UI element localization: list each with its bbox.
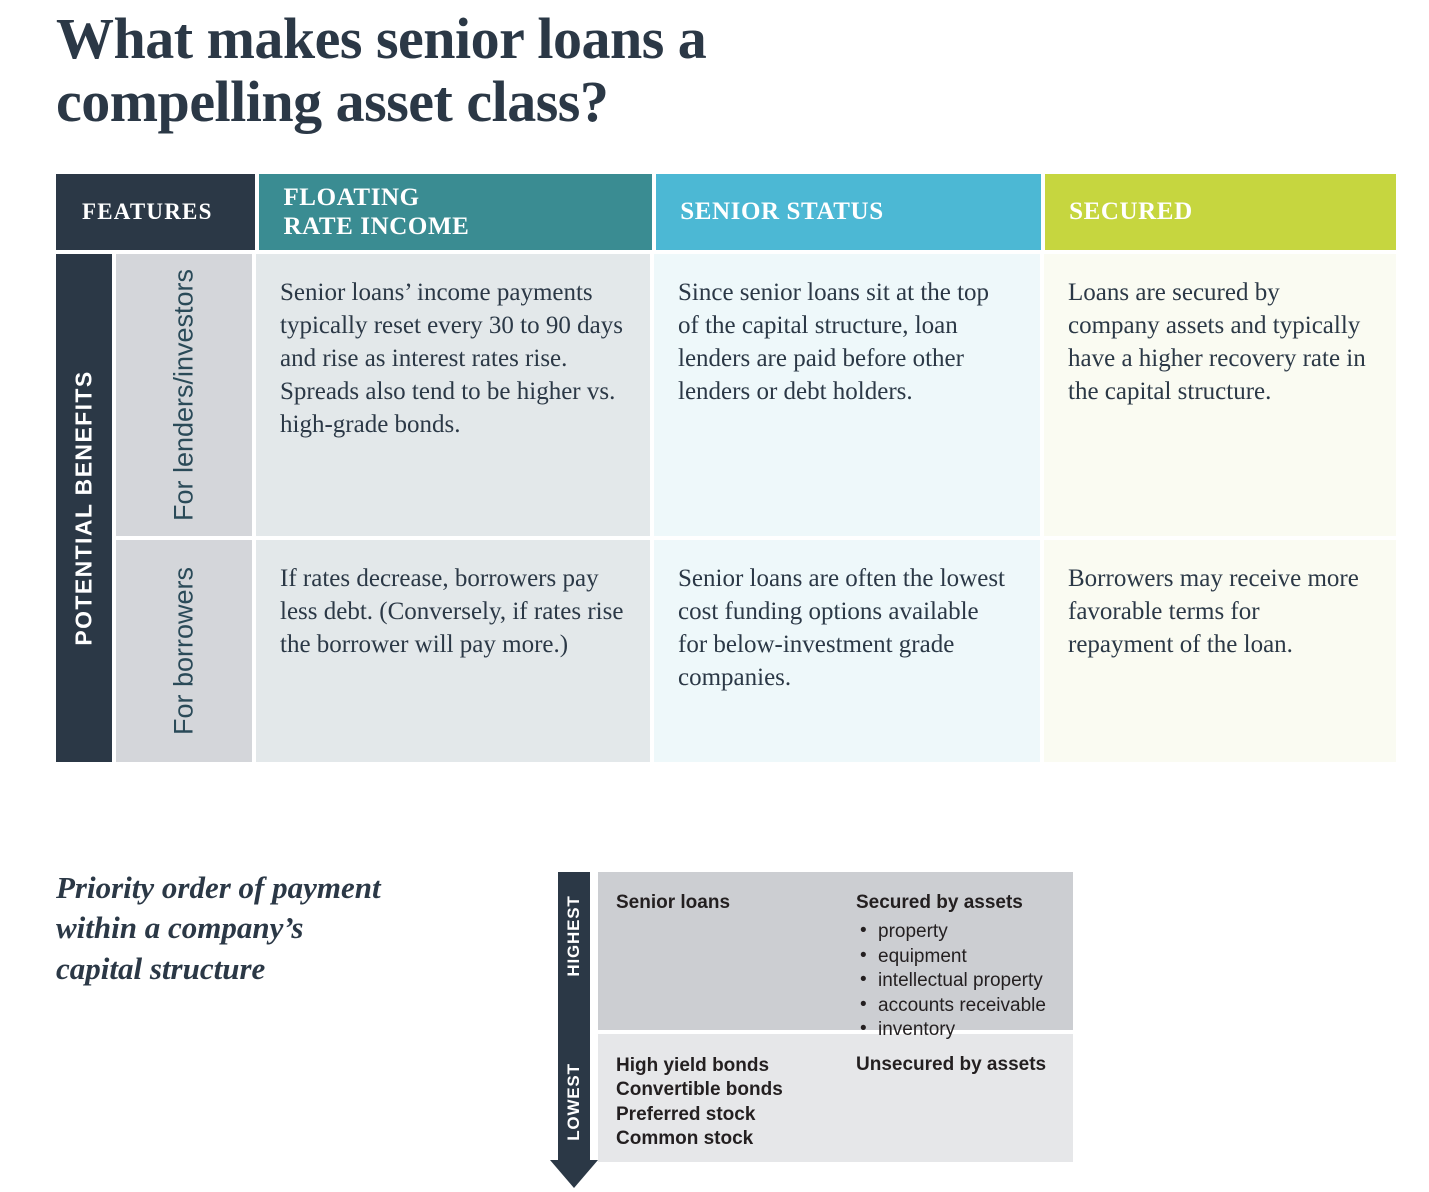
priority-caption: Priority order of payment within a compa… bbox=[56, 868, 486, 989]
list-item: inventory bbox=[856, 1018, 1071, 1043]
cell-lenders-secured: Loans are secured by company assets and … bbox=[1044, 254, 1396, 536]
priority-instrument-convertible-bonds: Convertible bonds bbox=[616, 1078, 856, 1102]
unsecured-by-assets-heading: Unsecured by assets bbox=[856, 1054, 1071, 1076]
priority-instrument-common-stock: Common stock bbox=[616, 1127, 856, 1151]
potential-benefits-side-bar: POTENTIAL BENEFITS bbox=[56, 254, 112, 762]
priority-panel-highest: Senior loans Secured by assets property … bbox=[598, 872, 1073, 1030]
cell-lenders-floating-rate-income: Senior loans’ income payments typically … bbox=[256, 254, 650, 536]
cell-borrowers-senior-status: Senior loans are often the lowest cost f… bbox=[654, 540, 1040, 762]
feature-comparison-table: FEATURES FLOATING RATE INCOME SENIOR STA… bbox=[56, 174, 1396, 762]
table-header-row: FEATURES FLOATING RATE INCOME SENIOR STA… bbox=[56, 174, 1396, 250]
arrow-label-lowest: LOWEST bbox=[564, 1063, 584, 1141]
table-row: For lenders/investors Senior loans’ inco… bbox=[116, 254, 1396, 536]
arrow-label-highest: HIGHEST bbox=[564, 895, 584, 976]
table-rows-wrapper: For lenders/investors Senior loans’ inco… bbox=[116, 254, 1396, 762]
priority-panel-highest-security: Secured by assets property equipment int… bbox=[856, 892, 1071, 1030]
row-label-lenders-investors: For lenders/investors bbox=[116, 254, 252, 536]
cell-borrowers-floating-rate-income: If rates decrease, borrowers pay less de… bbox=[256, 540, 650, 762]
priority-panel-lowest-instruments: High yield bonds Convertible bonds Prefe… bbox=[616, 1054, 856, 1162]
priority-instrument-senior-loans: Senior loans bbox=[616, 892, 856, 914]
row-label-text: For borrowers bbox=[169, 567, 200, 735]
priority-panel-highest-instruments: Senior loans bbox=[616, 892, 856, 1030]
arrow-tip-icon bbox=[550, 1160, 598, 1188]
column-header-features: FEATURES bbox=[56, 174, 255, 250]
page-title: What makes senior loans a compelling ass… bbox=[56, 8, 1056, 133]
page-title-line-1: What makes senior loans a bbox=[56, 8, 1056, 71]
priority-panels: Senior loans Secured by assets property … bbox=[598, 872, 1073, 1162]
priority-caption-line-2: within a company’s bbox=[56, 908, 486, 948]
cell-lenders-senior-status: Since senior loans sit at the top of the… bbox=[654, 254, 1040, 536]
column-header-floating-line-2: RATE INCOME bbox=[283, 212, 469, 242]
table-body: POTENTIAL BENEFITS For lenders/investors… bbox=[56, 254, 1396, 762]
priority-instrument-high-yield-bonds: High yield bonds bbox=[616, 1054, 856, 1078]
list-item: accounts receivable bbox=[856, 994, 1071, 1019]
table-row: For borrowers If rates decrease, borrowe… bbox=[116, 540, 1396, 762]
priority-instrument-preferred-stock: Preferred stock bbox=[616, 1103, 856, 1127]
priority-caption-line-3: capital structure bbox=[56, 949, 486, 989]
secured-by-assets-heading: Secured by assets bbox=[856, 892, 1071, 914]
list-item: property bbox=[856, 920, 1071, 945]
priority-panel-lowest: High yield bonds Convertible bonds Prefe… bbox=[598, 1034, 1073, 1162]
column-header-floating-rate-income: FLOATING RATE INCOME bbox=[259, 174, 652, 250]
list-item: intellectual property bbox=[856, 969, 1071, 994]
column-header-floating-line-1: FLOATING bbox=[283, 183, 469, 213]
priority-caption-line-1: Priority order of payment bbox=[56, 868, 486, 908]
row-label-text: For lenders/investors bbox=[169, 269, 200, 521]
priority-panel-lowest-security: Unsecured by assets bbox=[856, 1054, 1071, 1162]
priority-down-arrow-icon: HIGHEST LOWEST bbox=[558, 872, 590, 1160]
page-title-line-2: compelling asset class? bbox=[56, 71, 1056, 134]
cell-borrowers-secured: Borrowers may receive more favorable ter… bbox=[1044, 540, 1396, 762]
row-label-borrowers: For borrowers bbox=[116, 540, 252, 762]
potential-benefits-label: POTENTIAL BENEFITS bbox=[71, 370, 98, 645]
list-item: equipment bbox=[856, 945, 1071, 970]
secured-assets-list: property equipment intellectual property… bbox=[856, 920, 1071, 1043]
column-header-secured: SECURED bbox=[1045, 174, 1396, 250]
column-header-senior-status: SENIOR STATUS bbox=[656, 174, 1041, 250]
